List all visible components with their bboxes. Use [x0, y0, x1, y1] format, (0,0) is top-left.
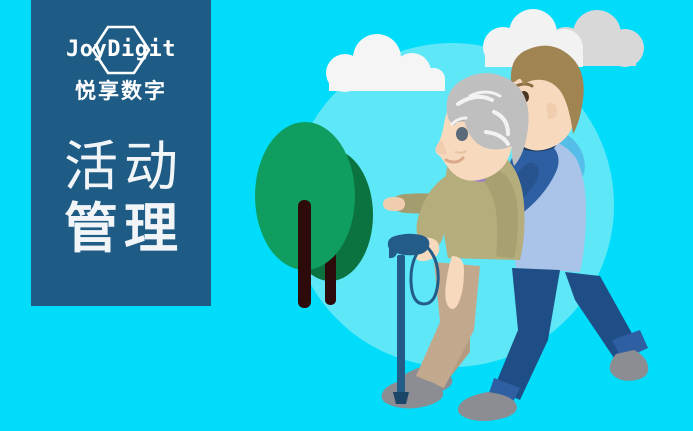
activity-management-banner: JoyDigit 悦享数字 活动 管理 [0, 0, 693, 431]
logo-mark: JoyDigit [49, 28, 193, 72]
woman-eye [456, 127, 468, 141]
page-title-line-1: 活动 [31, 136, 211, 198]
page-title-line-2: 管理 [31, 198, 211, 260]
man-back-shoe [610, 350, 649, 381]
logo-wordmark: JoyDigit [49, 36, 193, 64]
cane-shaft [397, 255, 405, 395]
title-panel: JoyDigit 悦享数字 活动 管理 [31, 0, 211, 306]
page-title: 活动 管理 [31, 136, 211, 260]
cloud-left [326, 34, 445, 92]
woman-back-hand [383, 197, 405, 211]
brand-logo: JoyDigit 悦享数字 [31, 28, 211, 105]
logo-chinese-name: 悦享数字 [31, 79, 211, 105]
